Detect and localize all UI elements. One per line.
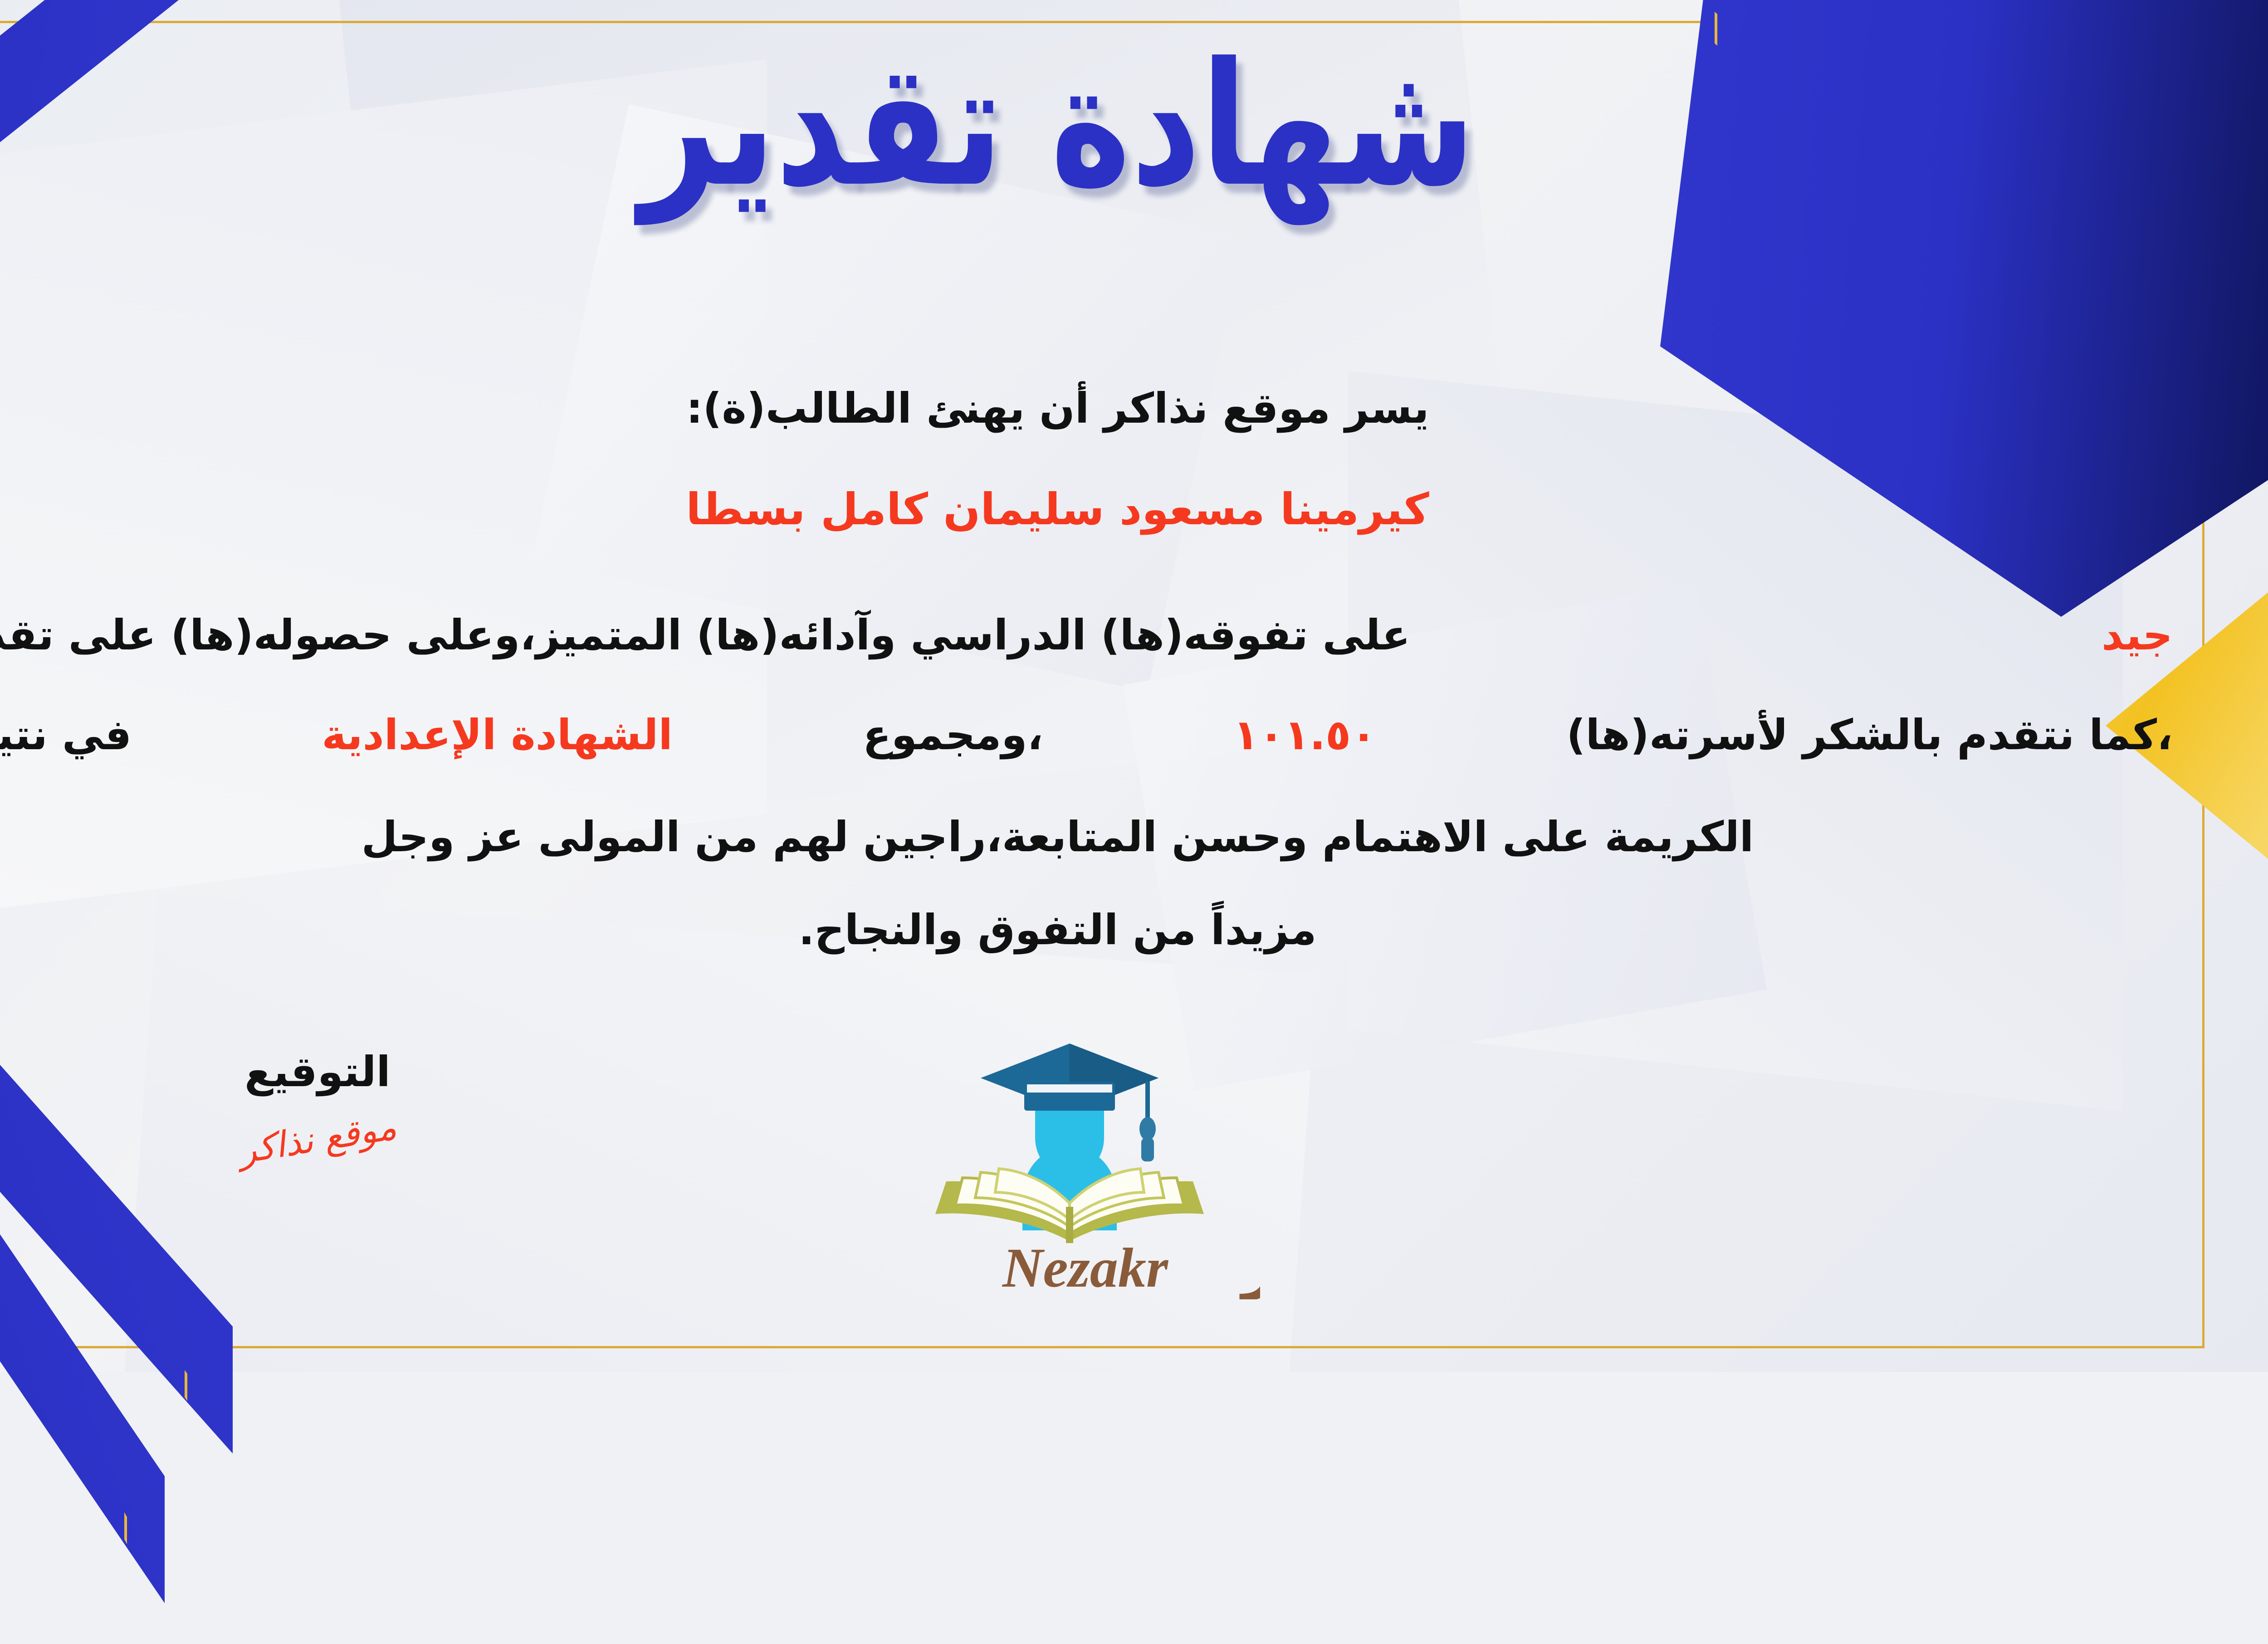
certificate-content: شهادة تقدير يسر موقع نذاكر أن يهنئ الطال…	[0, 0, 2268, 1372]
achievement-text: على تفوقه(ها) الدراسي وآدائه(ها) المتميز…	[0, 615, 1410, 656]
grade-value: جيد	[2102, 615, 2173, 656]
signature-block: التوقيع موقع نذاكر	[159, 1048, 476, 1160]
thanks-text: ،كما نتقدم بالشكر لأسرته(ها)	[1566, 714, 2173, 756]
greeting-line: يسر موقع نذاكر أن يهنئ الطالب(ة):	[0, 388, 2200, 429]
logo-name-ar: نذاكر	[1239, 1231, 1260, 1299]
logo-name-en: Nezakr	[1002, 1237, 1169, 1299]
total-label: ،ومجموع	[863, 714, 1043, 756]
certificate-title: شهادة تقدير	[0, 27, 2268, 223]
signature-label: التوقيع	[159, 1048, 476, 1096]
site-logo: Nezakr نذاكر	[879, 1027, 1260, 1299]
total-score: ١٠١.٥٠	[1233, 714, 1377, 756]
student-name: كيرمينا مسعود سليمان كامل بسطا	[0, 488, 2200, 531]
signature-mark: موقع نذاكر	[236, 1107, 399, 1172]
exam-name: الشهادة الإعدادية	[322, 714, 673, 756]
exam-result-line: ،كما نتقدم بالشكر لأسرته(ها) ١٠١.٥٠ ،ومج…	[0, 714, 2200, 756]
result-label: في نتيجة	[0, 714, 132, 756]
achievement-line: جيد على تفوقه(ها) الدراسي وآدائه(ها) الم…	[0, 615, 2200, 656]
closing-wish-line: مزيداً من التفوق والنجاح.	[0, 909, 2200, 951]
family-thanks-line: الكريمة على الاهتمام وحسن المتابعة،راجين…	[0, 816, 2200, 858]
